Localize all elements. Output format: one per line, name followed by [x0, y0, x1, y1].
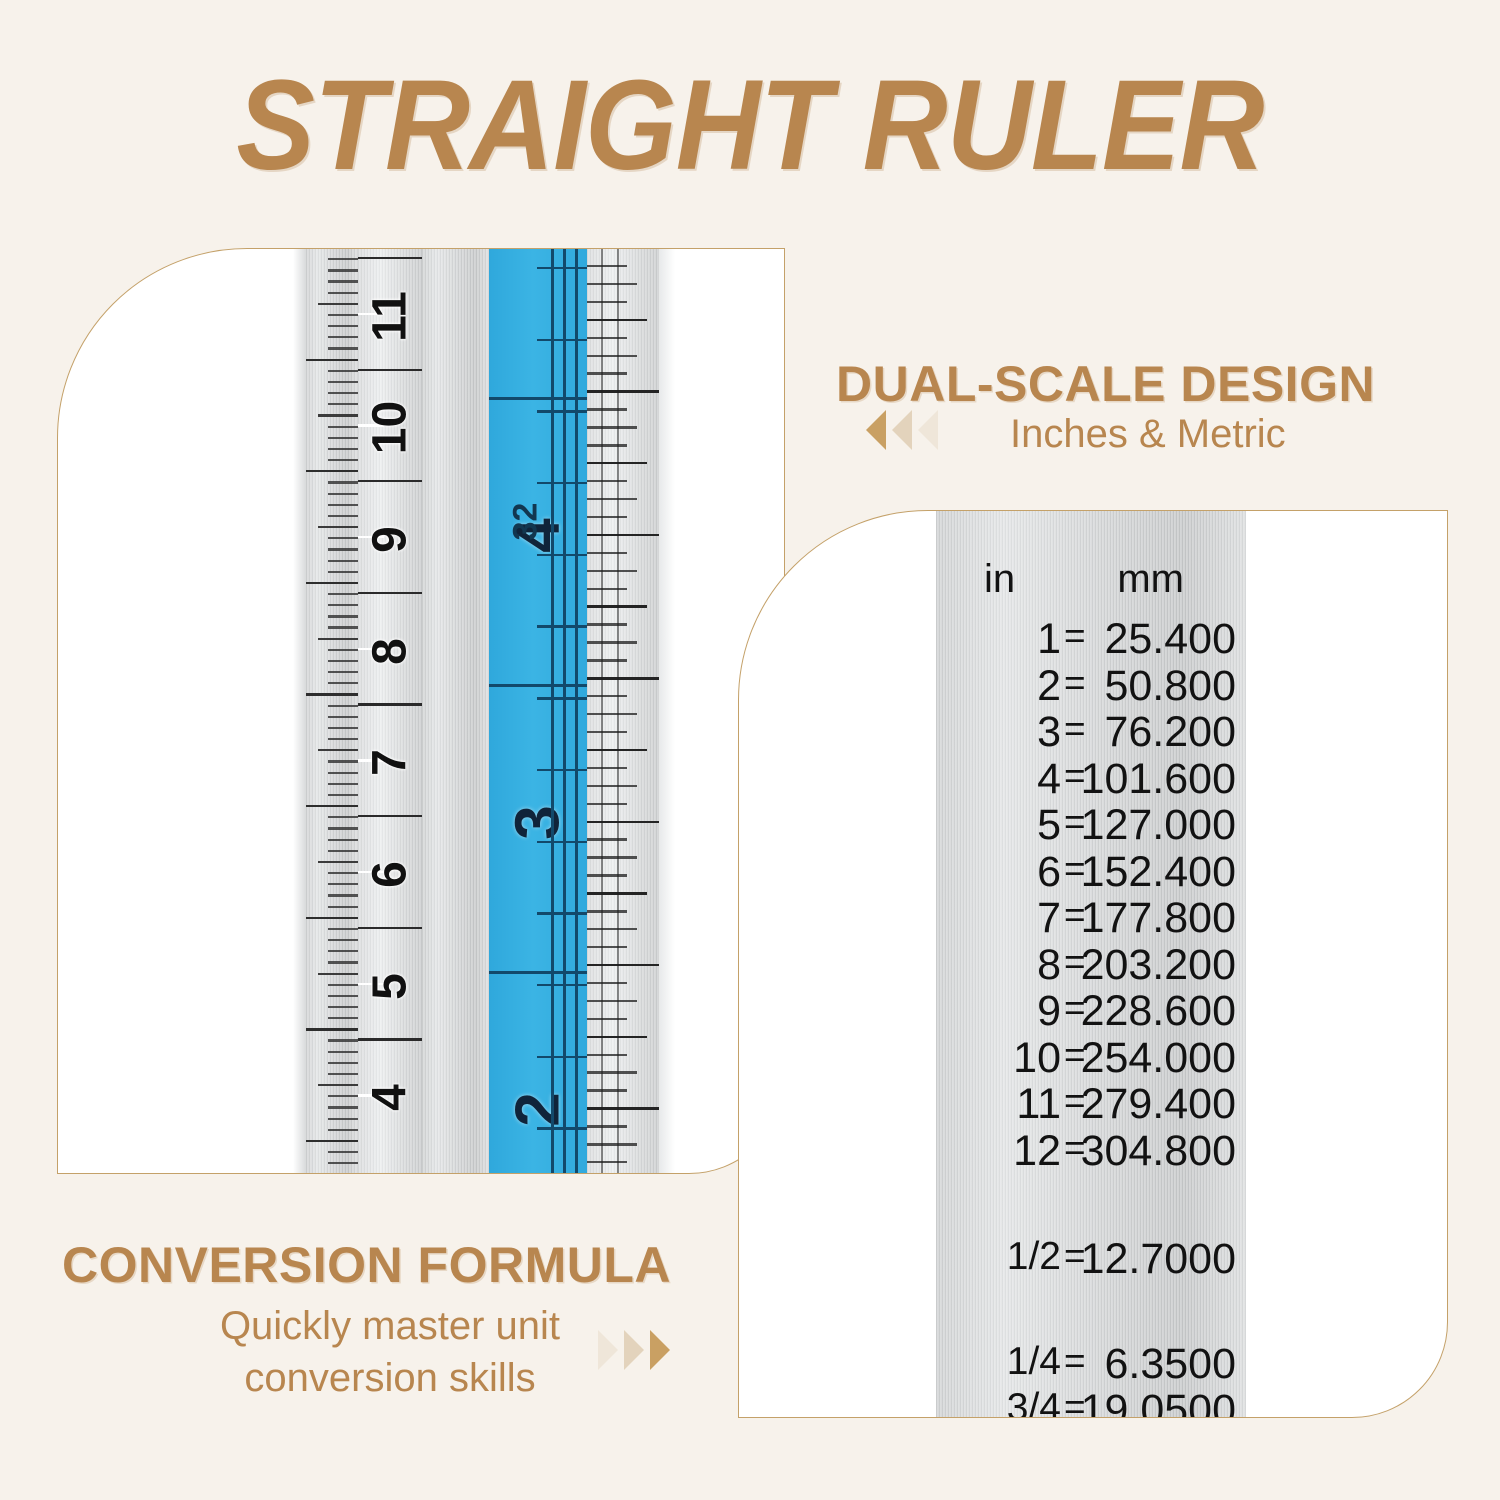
ruler-right-edge [659, 248, 675, 1174]
chart-cell-mm: 228.600 [1081, 987, 1236, 1036]
chart-cell-mm: 25.400 [1104, 615, 1236, 664]
chart-cell-equals: = [1064, 662, 1086, 704]
conversion-chart-panel: inmm1=25.4002=50.8003=76.2004=101.6005=1… [738, 510, 1448, 1418]
chart-cell-in: 1/2 [1007, 1235, 1061, 1279]
chart-cell-in: 11 [1016, 1080, 1061, 1129]
chart-cell-in: 7 [1037, 894, 1061, 943]
chart-row: 3/4=19.0500 [936, 1386, 1246, 1418]
ruler-photo-panel: 1110987654 43232 [57, 248, 785, 1174]
chevron-left-icon [866, 410, 886, 450]
conversion-formula-heading: CONVERSION FORMULA [62, 1236, 671, 1294]
chart-cell-in: 6 [1037, 848, 1061, 897]
chart-cell-in: 12 [1013, 1127, 1061, 1176]
ruler-blank-strip [422, 248, 489, 1174]
chart-cell-in: 2 [1037, 662, 1061, 711]
chart-cell-mm: 101.600 [1081, 755, 1236, 804]
chart-cell-in: 1 [1037, 615, 1061, 664]
chart-row: 5=127.000 [936, 801, 1246, 839]
chart-cell-mm: 152.400 [1081, 848, 1236, 897]
conversion-chart-text: inmm1=25.4002=50.8003=76.2004=101.6005=1… [936, 510, 1246, 1418]
chart-cell-mm: 203.200 [1081, 941, 1236, 990]
chart-cell-equals: = [1064, 615, 1086, 657]
chart-row: 7=177.800 [936, 894, 1246, 932]
chart-cell-mm: 6.3500 [1104, 1340, 1236, 1389]
inch-scale-blue-band: 43232 [489, 248, 587, 1174]
chevron-left-icon [892, 410, 912, 450]
chart-cell-mm: 177.800 [1081, 894, 1236, 943]
chart-row: 9=228.600 [936, 987, 1246, 1025]
cm-number-scale: 1110987654 [358, 248, 422, 1174]
conversion-formula-subtitle-line2: conversion skills [200, 1352, 580, 1405]
chart-row: 8=203.200 [936, 941, 1246, 979]
chart-header-in: in [984, 557, 1015, 602]
chart-row: 6=152.400 [936, 848, 1246, 886]
chevron-right-icon [598, 1330, 618, 1370]
conversion-formula-chevrons [598, 1330, 676, 1370]
chart-cell-in: 8 [1037, 941, 1061, 990]
chevron-right-icon [624, 1330, 644, 1370]
chart-cell-in: 9 [1037, 987, 1061, 1036]
chart-cell-mm: 76.200 [1104, 708, 1236, 757]
chart-cell-mm: 50.800 [1104, 662, 1236, 711]
chart-row: 1=25.400 [936, 615, 1246, 653]
chart-cell-in: 3/4 [1007, 1386, 1061, 1418]
chart-cell-mm: 279.400 [1081, 1080, 1236, 1129]
chart-cell-mm: 12.7000 [1081, 1235, 1236, 1284]
infographic-canvas: STRAIGHT RULER 1110987654 43232 inmm1=25… [0, 0, 1500, 1500]
chart-cell-mm: 127.000 [1081, 801, 1236, 850]
chevron-left-icon [918, 410, 938, 450]
chart-cell-in: 4 [1037, 755, 1061, 804]
inch-tick-marks [587, 248, 659, 1174]
cm-tick-marks [306, 248, 358, 1174]
chart-row: 2=50.800 [936, 662, 1246, 700]
ruler-left-edge [293, 248, 306, 1174]
steel-ruler-image: 1110987654 43232 [249, 248, 609, 1174]
chart-cell-in: 1/4 [1007, 1340, 1061, 1384]
chart-cell-mm: 19.0500 [1081, 1386, 1236, 1418]
page-title: STRAIGHT RULER [60, 52, 1440, 199]
chart-header-mm: mm [1117, 557, 1184, 602]
dual-scale-heading: DUAL-SCALE DESIGN [836, 355, 1375, 413]
dual-scale-subtitle: Inches & Metric [1010, 408, 1286, 461]
dual-scale-chevrons [866, 410, 944, 450]
chart-cell-in: 3 [1037, 708, 1061, 757]
chart-row: 4=101.600 [936, 755, 1246, 793]
chart-row: 11=279.400 [936, 1080, 1246, 1118]
chart-cell-in: 5 [1037, 801, 1061, 850]
conversion-formula-subtitle-line1: Quickly master unit [200, 1300, 580, 1353]
conversion-chart-image: inmm1=25.4002=50.8003=76.2004=101.6005=1… [936, 510, 1246, 1418]
chart-cell-mm: 304.800 [1081, 1127, 1236, 1176]
chart-row: 12=304.800 [936, 1127, 1246, 1165]
chart-row: 3=76.200 [936, 708, 1246, 746]
chart-row: 1/2=12.7000 [936, 1235, 1246, 1273]
chart-row: 1/4=6.3500 [936, 1340, 1246, 1378]
chevron-right-icon [650, 1330, 670, 1370]
chart-cell-mm: 254.000 [1081, 1034, 1236, 1083]
chart-cell-equals: = [1064, 1340, 1086, 1382]
chart-cell-equals: = [1064, 708, 1086, 750]
chart-row: 10=254.000 [936, 1034, 1246, 1072]
chart-cell-in: 10 [1013, 1034, 1061, 1083]
